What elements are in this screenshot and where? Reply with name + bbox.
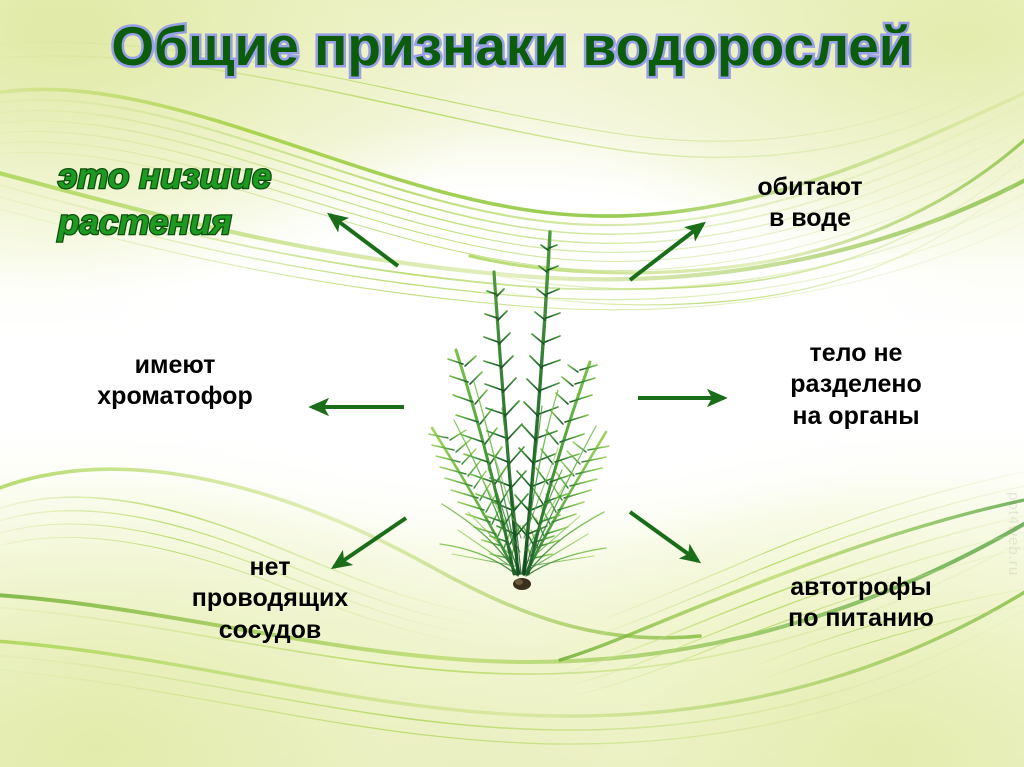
label-low-plants: это низшие растения: [58, 154, 358, 245]
slide-title-text: Общие признаки водорослей: [111, 14, 912, 78]
slide-title: Общие признаки водорослей: [0, 14, 1024, 78]
label-have-chromatophore: имеют хроматофор: [40, 350, 310, 413]
label-live-in-water: обитают в воде: [700, 172, 920, 235]
label-autotrophs: автотрофы по питанию: [726, 572, 996, 635]
label-body-not-divided: тело не разделено на органы: [736, 338, 976, 432]
slide-root: Общие признаки водорослей: [0, 0, 1024, 767]
label-no-conducting-vessels: нет проводящих сосудов: [130, 552, 410, 646]
algae-illustration: [398, 182, 638, 600]
watermark-text: ppt4web.ru: [998, 492, 1022, 752]
